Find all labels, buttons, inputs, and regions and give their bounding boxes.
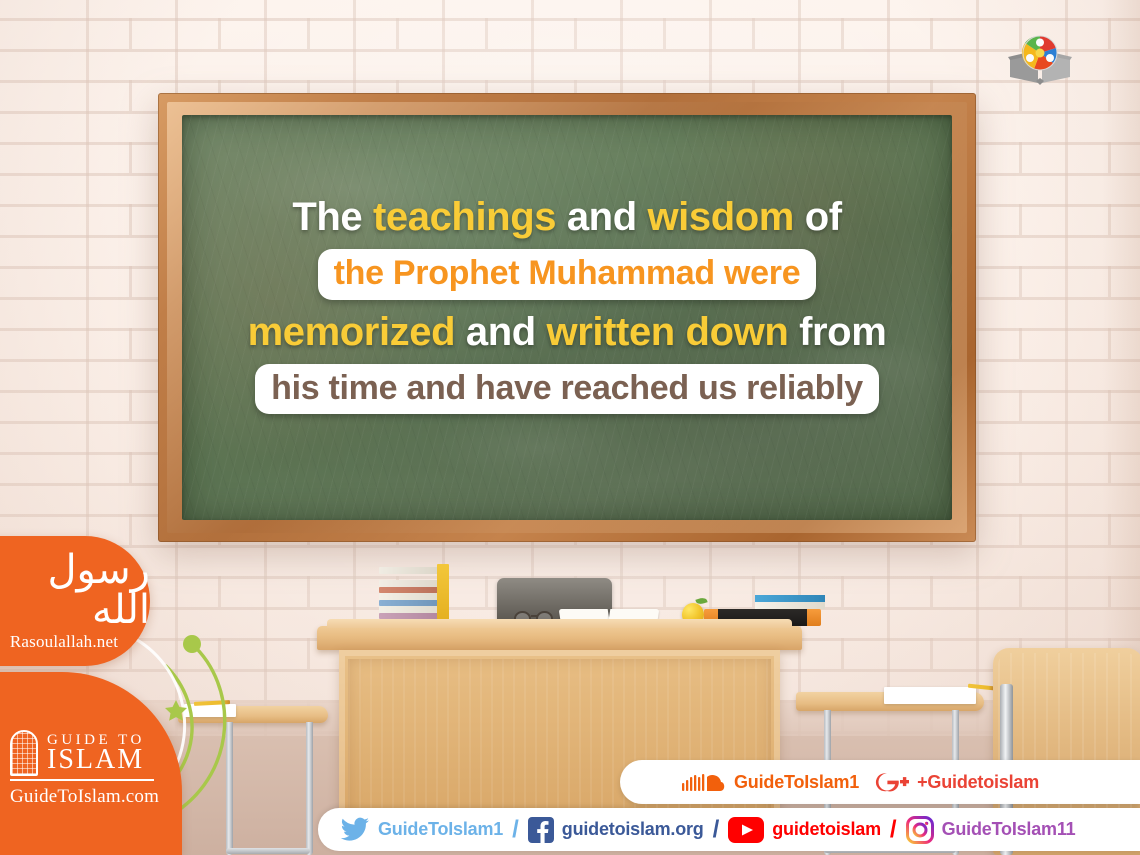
youtube-handle: guidetoislam <box>772 819 881 840</box>
mosque-arch-icon <box>10 730 38 776</box>
desk-rail <box>226 848 310 854</box>
social-soundcloud[interactable]: GuideToIslam1 <box>682 771 859 793</box>
separator-3: / <box>890 816 897 844</box>
gti-islam-text: ISLAM <box>47 747 145 773</box>
quote-seg-the: The <box>292 195 373 239</box>
quote-line-2-row: the Prophet Muhammad were <box>158 249 976 300</box>
upright-book <box>437 564 449 626</box>
quote-seg-memorized: memorized <box>248 310 466 354</box>
social-bar-bottom: GuideToIslam1 / guidetoislam.org / guide… <box>318 808 1140 851</box>
quote-pill-prophet: the Prophet Muhammad were <box>318 249 817 300</box>
youtube-icon <box>728 817 764 843</box>
facebook-handle: guidetoislam.org <box>562 819 704 840</box>
quote-block: The teachings and wisdom of the Prophet … <box>158 197 976 426</box>
separator-2: / <box>713 816 720 844</box>
social-youtube[interactable]: guidetoislam <box>728 817 881 843</box>
separator-1: / <box>512 816 519 844</box>
quote-seg-and: and <box>567 195 648 239</box>
quote-seg-of: of <box>805 195 842 239</box>
poster-canvas: The teachings and wisdom of the Prophet … <box>0 0 1140 855</box>
quote-line-3: memorized and written down from <box>158 312 976 352</box>
book-stack <box>379 564 449 626</box>
social-twitter[interactable]: GuideToIslam1 <box>340 817 503 842</box>
quote-seg-written-down: written down <box>547 310 800 354</box>
gti-underline <box>10 779 154 781</box>
gti-url: GuideToIslam.com <box>10 786 160 808</box>
rasoulallah-url: Rasoulallah.net <box>10 632 118 652</box>
soundcloud-handle: GuideToIslam1 <box>734 772 859 793</box>
quote-seg-from: from <box>799 310 886 354</box>
paper-sheet <box>884 687 976 704</box>
student-desk-left <box>178 706 328 855</box>
side-book-stack <box>755 593 825 609</box>
social-bar-top: GuideToIslam1 +Guidetoislam <box>620 760 1140 804</box>
googleplus-icon <box>875 770 909 794</box>
social-instagram[interactable]: GuideToIslam11 <box>906 816 1076 844</box>
quote-line-4-row: his time and have reached us reliably <box>158 364 976 415</box>
quote-pill-reliably: his time and have reached us reliably <box>255 364 879 415</box>
quote-seg-wisdom: wisdom <box>647 195 804 239</box>
paper-sheet <box>184 704 236 717</box>
soundcloud-icon <box>682 771 726 793</box>
twitter-handle: GuideToIslam1 <box>378 819 503 840</box>
globe-book-emblem <box>1006 31 1074 87</box>
facebook-icon <box>528 817 554 843</box>
twitter-icon <box>340 817 370 842</box>
arabic-calligraphy: رسول الله <box>0 550 150 630</box>
chalkboard: The teachings and wisdom of the Prophet … <box>158 93 976 542</box>
desk-top <box>317 626 802 650</box>
social-facebook[interactable]: guidetoislam.org <box>528 817 704 843</box>
quote-seg-and2: and <box>466 310 547 354</box>
googleplus-handle: +Guidetoislam <box>917 772 1039 793</box>
instagram-icon <box>906 816 934 844</box>
quote-line-1: The teachings and wisdom of <box>158 197 976 237</box>
social-googleplus[interactable]: +Guidetoislam <box>875 770 1039 794</box>
desk-leg <box>306 722 313 855</box>
quote-seg-teachings: teachings <box>373 195 567 239</box>
desk-leg <box>226 722 233 855</box>
logo-rasoulallah[interactable]: رسول الله Rasoulallah.net <box>0 536 150 666</box>
instagram-handle: GuideToIslam11 <box>942 819 1076 840</box>
